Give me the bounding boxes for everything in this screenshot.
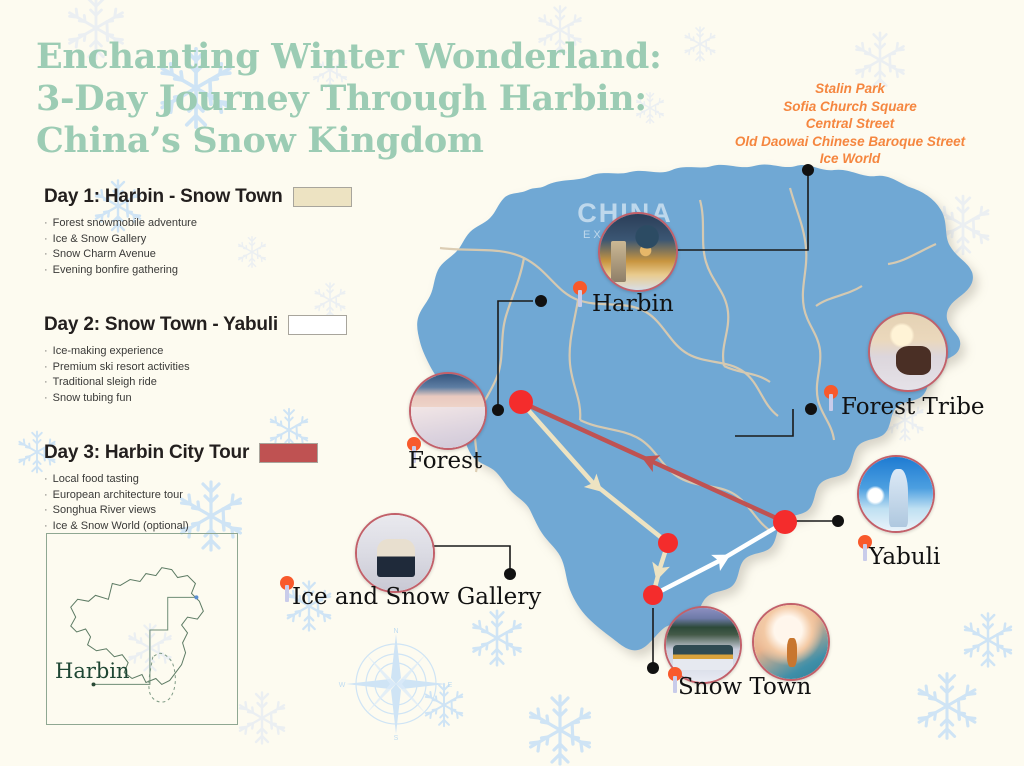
- leader-line-forest-tribe: [735, 409, 793, 436]
- legend-day-3-swatch: [259, 443, 318, 463]
- legend-item: Ice & Snow World (optional): [44, 519, 394, 535]
- route-node-yabuli: [773, 510, 797, 534]
- route-node-gallery: [658, 533, 678, 553]
- legend-item: Traditional sleigh ride: [44, 375, 394, 391]
- legend-item: Evening bonfire gathering: [44, 263, 394, 279]
- leader-line-forest: [498, 301, 533, 410]
- itinerary-legend: Day 1: Harbin - Snow Town Forest snowmob…: [44, 186, 394, 560]
- attraction-item: Sofia Church Square: [690, 98, 1010, 116]
- legend-day-3-items: Local food tasting European architecture…: [44, 472, 394, 534]
- compass-north-label: N: [393, 628, 398, 635]
- legend-day-3-title: Day 3: Harbin City Tour: [44, 442, 249, 464]
- page-title: Enchanting Winter Wonderland: 3-Day Jour…: [36, 36, 716, 162]
- route-day1b-gallery-to-snowtown: [653, 543, 668, 595]
- photo-forest-image: [411, 374, 485, 448]
- china-outline-svg: [47, 534, 237, 724]
- legend-item: Songhua River views: [44, 503, 394, 519]
- inset-harbin-label: Harbin: [55, 659, 130, 683]
- route-day1-harbin-to-snowtown: [521, 402, 668, 543]
- legend-day-2-title: Day 2: Snow Town - Yabuli: [44, 314, 278, 336]
- legend-item: Premium ski resort activities: [44, 360, 394, 376]
- legend-day-2-heading: Day 2: Snow Town - Yabuli: [44, 314, 394, 336]
- photo-forest-tribe[interactable]: [868, 312, 948, 392]
- photo-snow-town-skier-image: [754, 605, 828, 679]
- title-line-2: 3-Day Journey Through Harbin:: [36, 78, 716, 120]
- pin-harbin[interactable]: [573, 281, 587, 307]
- label-forest-tribe: Forest Tribe: [841, 394, 985, 420]
- photo-snow-town-skier[interactable]: [752, 603, 830, 681]
- title-line-1: Enchanting Winter Wonderland:: [36, 36, 716, 78]
- legend-item: Forest snowmobile adventure: [44, 216, 394, 232]
- pin-forest-tribe-stem: [829, 394, 833, 411]
- compass-east-label: E: [448, 682, 453, 689]
- compass-south-label: S: [394, 735, 399, 742]
- label-ice-and-snow-gallery: Ice and Snow Gallery: [292, 584, 541, 610]
- route-day2-snowtown-to-yabuli: [653, 522, 785, 595]
- attraction-item: Central Street: [690, 115, 1010, 133]
- pin-yabuli-stem: [863, 544, 867, 561]
- leader-line-harbin: [659, 170, 808, 250]
- china-locator-inset: Harbin: [46, 533, 238, 725]
- inset-harbin-dot: [92, 682, 96, 686]
- photo-ice-and-snow-gallery[interactable]: [355, 513, 435, 593]
- legend-item: Snow Charm Avenue: [44, 247, 394, 263]
- legend-day-3: Day 3: Harbin City Tour Local food tasti…: [44, 442, 394, 534]
- legend-day-1-items: Forest snowmobile adventure Ice & Snow G…: [44, 216, 394, 278]
- legend-day-1-heading: Day 1: Harbin - Snow Town: [44, 186, 394, 208]
- photo-forest-tribe-image: [870, 314, 946, 390]
- photo-harbin-image: [600, 214, 676, 290]
- photo-harbin[interactable]: [598, 212, 678, 292]
- legend-day-2-swatch: [288, 315, 347, 335]
- legend-item: Ice-making experience: [44, 344, 394, 360]
- title-line-3: China’s Snow Kingdom: [36, 120, 716, 162]
- anchor-dot-harbin: [535, 295, 547, 307]
- legend-day-2: Day 2: Snow Town - Yabuli Ice-making exp…: [44, 314, 394, 406]
- photo-yabuli-image: [859, 457, 933, 531]
- route-day3-yabuli-to-harbin: [521, 402, 785, 522]
- route-lines: [521, 402, 785, 595]
- legend-day-2-items: Ice-making experience Premium ski resort…: [44, 344, 394, 406]
- legend-item: Ice & Snow Gallery: [44, 232, 394, 248]
- anchor-dot-yabuli: [832, 515, 844, 527]
- route-nodes: [509, 390, 797, 605]
- label-forest: Forest: [408, 448, 482, 474]
- legend-day-1: Day 1: Harbin - Snow Town Forest snowmob…: [44, 186, 394, 278]
- route-node-harbin: [509, 390, 533, 414]
- legend-day-1-title: Day 1: Harbin - Snow Town: [44, 186, 283, 208]
- pin-harbin-stem: [578, 290, 582, 307]
- legend-day-1-swatch: [293, 187, 352, 207]
- anchor-dot-snowtown: [647, 662, 659, 674]
- pin-ice-and-snow-gallery-stem: [285, 585, 289, 602]
- attraction-item: Old Daowai Chinese Baroque Street: [690, 133, 1010, 151]
- legend-item: Local food tasting: [44, 472, 394, 488]
- photo-ice-and-snow-gallery-image: [357, 515, 433, 591]
- pin-forest-tribe[interactable]: [824, 385, 838, 411]
- route-node-snowtown: [643, 585, 663, 605]
- anchor-dot-tribe: [805, 403, 817, 415]
- anchor-dot-gallery: [504, 568, 516, 580]
- legend-item: Snow tubing fun: [44, 391, 394, 407]
- photo-yabuli[interactable]: [857, 455, 935, 533]
- label-snow-town: Snow Town: [678, 674, 811, 700]
- anchor-dot-forest: [492, 404, 504, 416]
- label-harbin: Harbin: [592, 291, 674, 317]
- infographic-canvas: Enchanting Winter Wonderland: 3-Day Jour…: [0, 0, 1024, 766]
- attraction-item: Stalin Park: [690, 80, 1010, 98]
- legend-item: European architecture tour: [44, 488, 394, 504]
- pin-snow-town-stem: [673, 676, 677, 693]
- harbin-attractions-list: Stalin Park Sofia Church Square Central …: [690, 80, 1010, 168]
- compass-west-label: W: [339, 682, 346, 689]
- label-yabuli: Yabuli: [869, 544, 940, 570]
- inset-target-dot: [194, 595, 198, 599]
- compass-rose: N S W E: [338, 626, 454, 742]
- attraction-item: Ice World: [690, 150, 1010, 168]
- legend-day-3-heading: Day 3: Harbin City Tour: [44, 442, 394, 464]
